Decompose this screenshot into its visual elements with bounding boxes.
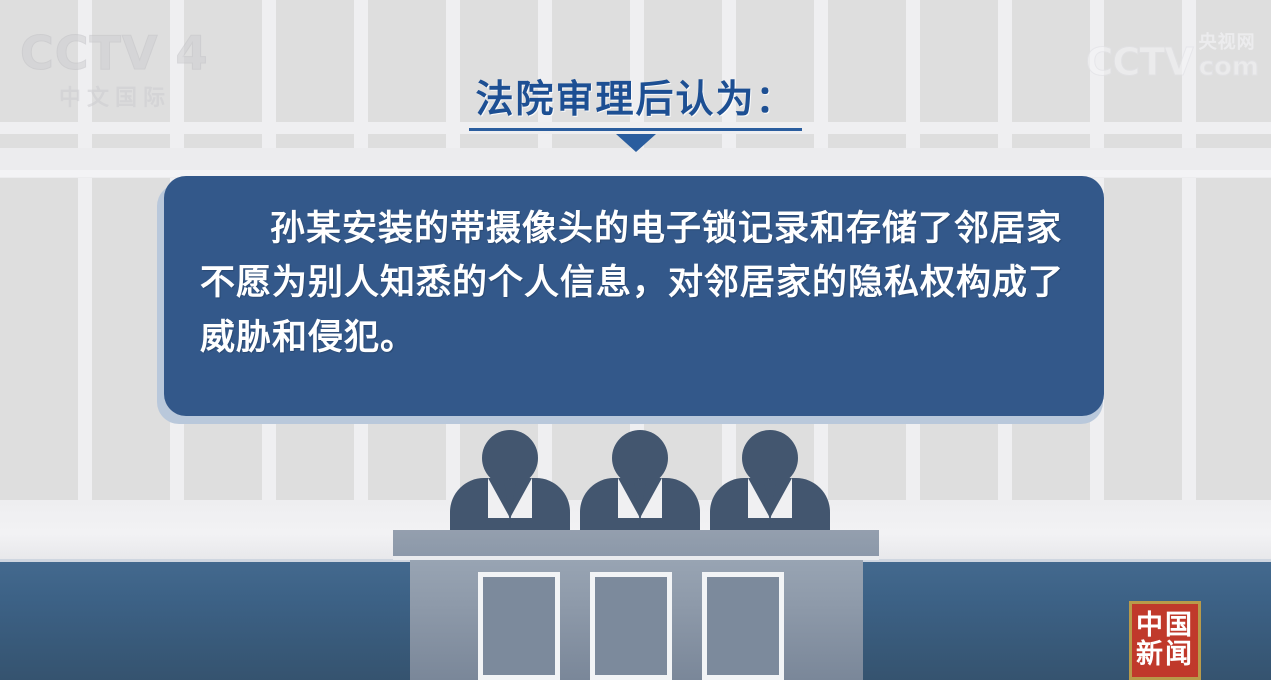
- judge-tie: [504, 480, 516, 524]
- content-panel: 孙某安装的带摄像头的电子锁记录和存储了邻居家不愿为别人知悉的个人信息，对邻居家的…: [164, 176, 1104, 416]
- headline-down-arrow-icon: [616, 134, 656, 152]
- bench-front-panel: [590, 572, 672, 680]
- watermark-cctv-text: CCTV: [1086, 44, 1193, 80]
- watermark-cn-text: 央视网: [1199, 34, 1256, 52]
- brand-line-1: 中国: [1136, 612, 1194, 640]
- bench-front-panel: [478, 572, 560, 680]
- brand-line-2: 新闻: [1136, 641, 1194, 669]
- content-panel-text: 孙某安装的带摄像头的电子锁记录和存储了邻居家不愿为别人知悉的个人信息，对邻居家的…: [200, 202, 1068, 365]
- headline-container: 法院审理后认为：: [0, 78, 1271, 131]
- cctv4-logo-main: CCTV 4: [20, 30, 210, 76]
- judge-figure: [580, 430, 700, 540]
- bench-front-panel: [702, 572, 784, 680]
- judge-figure: [710, 430, 830, 540]
- judges-illustration: [450, 430, 830, 540]
- bench-top-surface: [393, 530, 879, 558]
- judge-tie: [764, 480, 776, 524]
- broadcast-graphic-frame: CCTV 4 中文国际 CCTV 央视网 com 法院审理后认为： 孙某安装的带…: [0, 0, 1271, 680]
- watermark-right-group: 央视网 com: [1199, 34, 1259, 80]
- china-news-brand-logo: 中国 新闻: [1129, 601, 1201, 680]
- headline-text: 法院审理后认为：: [469, 78, 801, 131]
- cctv-com-watermark: CCTV 央视网 com: [1086, 34, 1259, 80]
- watermark-com-text: com: [1199, 54, 1259, 80]
- judge-figure: [450, 430, 570, 540]
- judge-tie: [634, 480, 646, 524]
